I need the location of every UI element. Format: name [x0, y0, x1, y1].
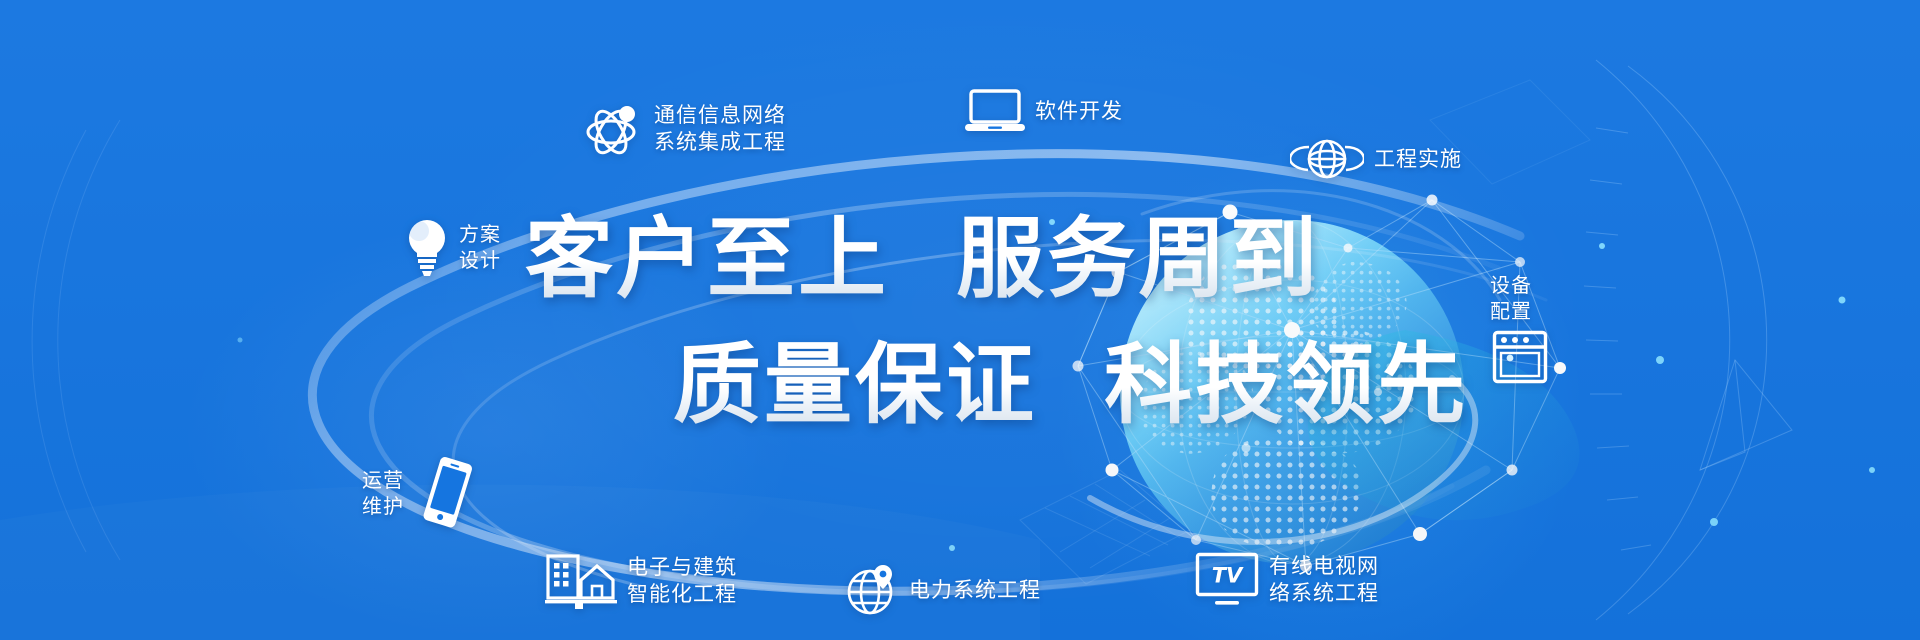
- tv-icon: TV: [1195, 552, 1259, 608]
- feature-design[interactable]: 方案 设计: [405, 216, 501, 278]
- server-window-icon: [1492, 330, 1548, 384]
- wireframe-arc-graphic: [1584, 60, 1792, 620]
- headline-line-2: 质量保证 科技领先: [525, 322, 1525, 448]
- svg-text:TV: TV: [1212, 564, 1244, 588]
- feature-design-label: 方案 设计: [459, 221, 501, 273]
- feature-building-label: 电子与建筑 智能化工程: [627, 554, 737, 608]
- feature-software-label: 软件开发: [1035, 98, 1123, 125]
- feature-network-label: 通信信息网络 系统集成工程: [654, 102, 786, 156]
- feature-operations-label: 运营 维护: [362, 467, 404, 519]
- smartphone-icon: [414, 455, 480, 531]
- lightbulb-icon: [405, 216, 449, 278]
- feature-cable-tv-label: 有线电视网 络系统工程: [1269, 553, 1379, 607]
- feature-power[interactable]: 电力系统工程: [845, 563, 1041, 617]
- feature-network[interactable]: 通信信息网络 系统集成工程: [582, 98, 786, 160]
- building-house-icon: [545, 552, 617, 610]
- feature-equipment-label: 设备 配置: [1484, 272, 1532, 324]
- laptop-icon: [965, 88, 1025, 134]
- globe-orbit-icon: [1290, 135, 1364, 183]
- feature-power-label: 电力系统工程: [909, 577, 1041, 604]
- feature-cable-tv[interactable]: TV 有线电视网 络系统工程: [1195, 552, 1379, 608]
- atom-icon: [582, 98, 644, 160]
- feature-building[interactable]: 电子与建筑 智能化工程: [545, 552, 737, 610]
- feature-engineering-label: 工程实施: [1374, 146, 1462, 173]
- headline-block: 客户至上 服务周到 质量保证 科技领先: [525, 196, 1525, 448]
- wireframe-arc-left: [32, 120, 120, 560]
- headline-line-1: 客户至上 服务周到: [525, 196, 1525, 322]
- feature-equipment[interactable]: 设备 配置: [1484, 272, 1548, 384]
- hero-banner: 客户至上 服务周到 质量保证 科技领先 通信信息网络 系统集成工程 软件开发: [0, 0, 1920, 640]
- feature-engineering[interactable]: 工程实施: [1290, 135, 1462, 183]
- globe-pin-icon: [845, 563, 899, 617]
- feature-operations[interactable]: 运营 维护: [362, 455, 480, 531]
- feature-software[interactable]: 软件开发: [965, 88, 1123, 134]
